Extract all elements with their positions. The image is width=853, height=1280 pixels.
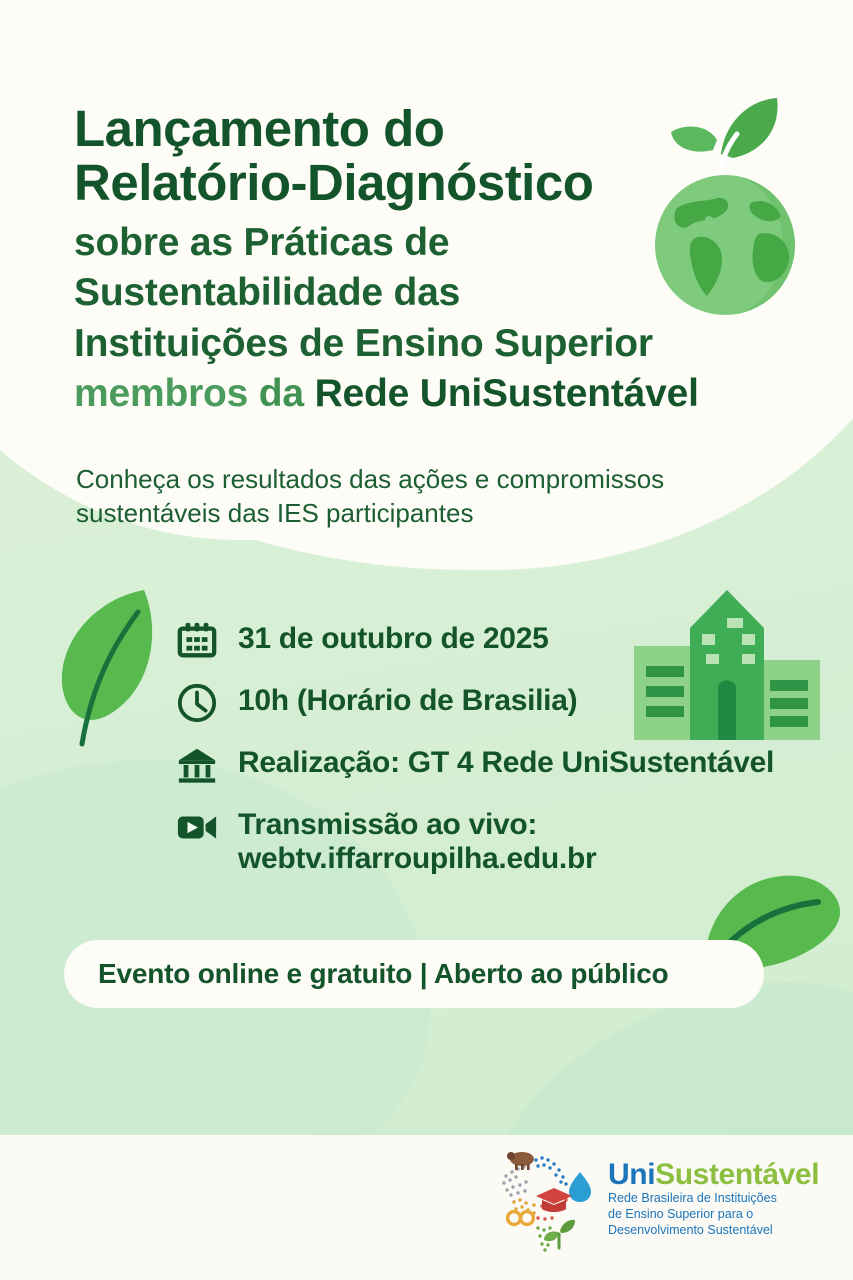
subtitle-line-4: membros da Rede UniSustentável — [74, 369, 774, 419]
clock-icon — [176, 680, 222, 726]
poster-headline: Lançamento do Relatório-Diagnóstico sobr… — [74, 103, 774, 419]
audience-badge: Evento online e gratuito | Aberto ao púb… — [64, 940, 764, 1008]
event-detail-organizer: Realização: GT 4 Rede UniSustentável — [176, 742, 853, 788]
event-details-list: 31 de outubro de 2025 10h (Horário de Br… — [176, 618, 853, 891]
logo-tagline: Rede Brasileira de Instituições de Ensin… — [608, 1190, 819, 1238]
event-detail-date: 31 de outubro de 2025 — [176, 618, 853, 664]
headline-line-2: Relatório-Diagnóstico — [74, 157, 774, 209]
subtitle-da: da — [248, 372, 314, 415]
headline-subtitle: sobre as Práticas de Sustentabilidade da… — [74, 218, 774, 419]
logo-tagline-line-3: Desenvolvimento Sustentável — [608, 1222, 819, 1238]
lead-line-2: sustentáveis das IES participantes — [76, 496, 816, 530]
event-stream-url: webtv.iffarroupilha.edu.br — [238, 842, 596, 876]
poster-lead-paragraph: Conheça os resultados das ações e compro… — [76, 462, 816, 531]
event-stream-text-block: Transmissão ao vivo: webtv.iffarroupilha… — [238, 804, 596, 875]
subtitle-membros: membros — [74, 372, 248, 415]
logo-word-sustentavel: Sustentável — [655, 1158, 819, 1191]
brazil-map-dots-icon — [492, 1146, 600, 1254]
subtitle-line-2: Sustentabilidade das — [74, 268, 774, 318]
water-drop-icon — [569, 1172, 591, 1202]
institution-icon — [176, 742, 222, 788]
event-organizer-text: Realização: GT 4 Rede UniSustentável — [238, 742, 774, 780]
subtitle-line-3: Instituições de Ensino Superior — [74, 319, 774, 369]
video-camera-icon — [176, 804, 222, 850]
leaf-decoration-left-icon — [52, 578, 167, 758]
logo-text-block: UniSustentável Rede Brasileira de Instit… — [608, 1146, 819, 1238]
subtitle-line-1: sobre as Práticas de — [74, 218, 774, 268]
event-detail-stream: Transmissão ao vivo: webtv.iffarroupilha… — [176, 804, 853, 875]
lead-line-1: Conheça os resultados das ações e compro… — [76, 462, 816, 496]
logo-tagline-line-1: Rede Brasileira de Instituições — [608, 1190, 819, 1206]
logo-word-uni: Uni — [608, 1158, 655, 1191]
unisustentavel-logo: UniSustentável Rede Brasileira de Instit… — [492, 1146, 812, 1254]
calendar-icon — [176, 618, 222, 664]
sheep-icon — [507, 1152, 534, 1170]
logo-wordmark: UniSustentável — [608, 1158, 819, 1191]
event-stream-label: Transmissão ao vivo: — [238, 808, 537, 841]
subtitle-network-name: Rede UniSustentável — [315, 372, 699, 415]
logo-tagline-line-2: de Ensino Superior para o — [608, 1206, 819, 1222]
event-poster: Lançamento do Relatório-Diagnóstico sobr… — [0, 0, 853, 1280]
audience-badge-text: Evento online e gratuito | Aberto ao púb… — [98, 958, 668, 990]
event-time-text: 10h (Horário de Brasilia) — [238, 680, 577, 718]
event-date-text: 31 de outubro de 2025 — [238, 618, 548, 656]
headline-line-1: Lançamento do — [74, 103, 774, 155]
infinity-icon — [508, 1212, 534, 1225]
event-detail-time: 10h (Horário de Brasilia) — [176, 680, 853, 726]
